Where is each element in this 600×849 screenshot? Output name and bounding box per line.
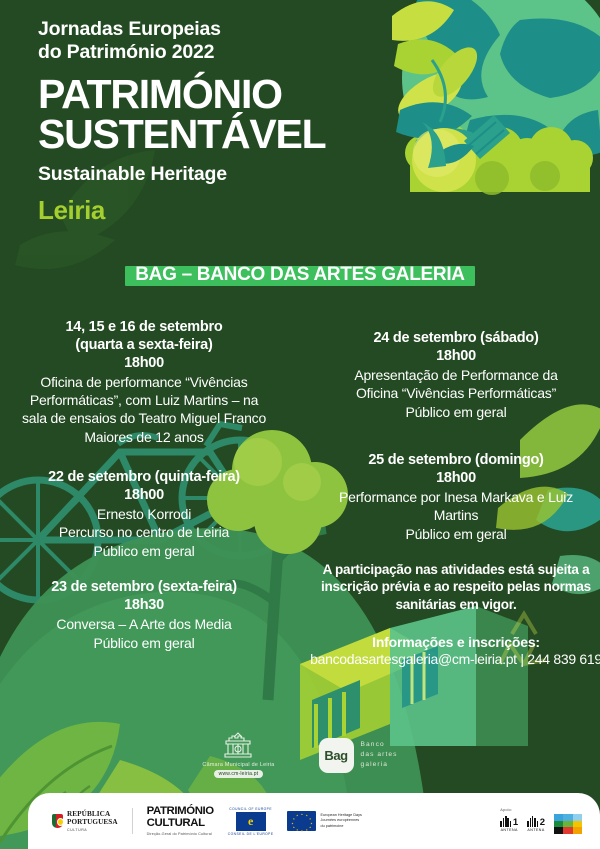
event-date: 22 de setembro (quinta-feira): [0, 468, 300, 486]
institution-row: Câmara Municipal de Leiria www.cm-leiria…: [0, 726, 600, 784]
page-subtitle: Sustainable Heritage: [38, 163, 378, 186]
council-of-europe-logo: COUNCIL OF EUROPE e CONSEIL DE L'EUROPE: [228, 807, 274, 836]
sponsor-footer: REPÚBLICA PORTUGUESA CULTURA PATRIMÓNIO …: [28, 793, 600, 849]
event-date: 25 de setembro (domingo): [300, 451, 600, 469]
antena2-word: ANTENA: [527, 828, 544, 832]
coe-flag-icon: e: [236, 812, 266, 831]
antena1-logo: 1 ANTENA: [500, 816, 518, 832]
event-description: Performance por Inesa Markava e Luiz Mar…: [300, 489, 600, 525]
poster: Jornadas Europeias do Património 2022 PA…: [0, 0, 600, 849]
event-description: Ernesto Korrodi Percurso no centro de Le…: [0, 506, 300, 542]
apoio-label: Apoio:: [500, 808, 582, 812]
rtp-logo: [554, 814, 582, 834]
event-time: 18h30: [0, 596, 300, 615]
antena1-number: 1: [513, 818, 518, 828]
coat-of-arms-icon: [220, 732, 256, 760]
camara-url[interactable]: www.cm-leiria.pt: [214, 770, 264, 778]
event-item: 14, 15 e 16 de setembro (quarta a sexta-…: [0, 318, 300, 446]
event-item: 24 de setembro (sábado) 18h00 Apresentaç…: [300, 329, 600, 421]
bag-logo: Bag Banco das artes galeria: [319, 738, 398, 773]
patrimonio-cultural-logo: PATRIMÓNIO CULTURAL Direção-Geral do Pat…: [147, 806, 214, 835]
coe-emblem: e: [248, 815, 253, 827]
programme-column-left: 14, 15 e 16 de setembro (quarta a sexta-…: [0, 318, 300, 668]
bag-mark: Bag: [319, 738, 354, 773]
event-item: 23 de setembro (sexta-feira) 18h30 Conve…: [0, 578, 300, 652]
republica-sublabel: CULTURA: [67, 828, 118, 832]
antena-bars-icon: [527, 816, 538, 827]
event-time: 18h00: [0, 486, 300, 505]
camara-name: Câmara Municipal de Leiria: [202, 762, 274, 768]
antena2-number: 2: [540, 818, 545, 828]
ehd-label: European Heritage Days Journées européen…: [320, 813, 361, 829]
globe-illustration: [390, 0, 600, 195]
event-date: 23 de setembro (sexta-feira): [0, 578, 300, 596]
event-audience: Público em geral: [300, 403, 600, 421]
camara-municipal-logo: Câmara Municipal de Leiria www.cm-leiria…: [202, 732, 274, 778]
coe-top-label: COUNCIL OF EUROPE: [229, 807, 272, 811]
antena1-word: ANTENA: [501, 828, 518, 832]
event-description: Oficina de performance “Vivências Perfor…: [0, 374, 300, 428]
event-date: 14, 15 e 16 de setembro (quarta a sexta-…: [0, 318, 300, 354]
event-item: 22 de setembro (quinta-feira) 18h00 Erne…: [0, 468, 300, 560]
participation-notice: A participação nas atividades está sujei…: [300, 561, 600, 614]
apoio-block: Apoio: 1 ANTENA: [500, 808, 582, 834]
eu-flag-icon: [287, 811, 316, 831]
antena2-logo: 2 ANTENA: [527, 816, 545, 832]
page-title: PATRIMÓNIO SUSTENTÁVEL: [38, 74, 378, 154]
event-time: 18h00: [300, 469, 600, 488]
patrimonio-label: PATRIMÓNIO CULTURAL: [147, 806, 214, 829]
bag-wordmark: Banco das artes galeria: [361, 740, 398, 771]
contact-heading: Informações e inscrições:: [300, 634, 600, 650]
event-description: Apresentação de Performance da Oficina “…: [300, 367, 600, 403]
city-name: Leiria: [38, 195, 378, 226]
footer-divider: [132, 808, 133, 834]
event-audience: Maiores de 12 anos: [0, 428, 300, 446]
event-audience: Público em geral: [300, 525, 600, 543]
event-date: 24 de setembro (sábado): [300, 329, 600, 347]
event-audience: Público em geral: [0, 634, 300, 652]
portugal-shield-icon: [52, 814, 63, 828]
republica-portuguesa-logo: REPÚBLICA PORTUGUESA CULTURA: [52, 810, 118, 832]
patrimonio-sublabel: Direção-Geral do Património Cultural: [147, 832, 214, 836]
programme-column-right: 24 de setembro (sábado) 18h00 Apresentaç…: [300, 318, 600, 668]
poster-header: Jornadas Europeias do Património 2022 PA…: [38, 18, 378, 226]
event-description: Conversa – A Arte dos Media: [0, 616, 300, 634]
contact-details: bancodasartesgaleria@cm-leiria.pt | 244 …: [300, 650, 600, 668]
european-heritage-days-logo: European Heritage Days Journées européen…: [287, 811, 361, 831]
event-kicker: Jornadas Europeias do Património 2022: [38, 18, 378, 64]
event-time: 18h00: [300, 347, 600, 366]
venue-label: BAG – BANCO DAS ARTES GALERIA: [125, 261, 474, 290]
venue-banner: BAG – BANCO DAS ARTES GALERIA: [0, 261, 600, 290]
coe-bottom-label: CONSEIL DE L'EUROPE: [228, 832, 274, 836]
event-item: 25 de setembro (domingo) 18h00 Performan…: [300, 451, 600, 543]
event-time: 18h00: [0, 354, 300, 373]
republica-label: REPÚBLICA PORTUGUESA: [67, 810, 118, 826]
event-audience: Público em geral: [0, 542, 300, 560]
antena-bars-icon: [500, 816, 511, 827]
